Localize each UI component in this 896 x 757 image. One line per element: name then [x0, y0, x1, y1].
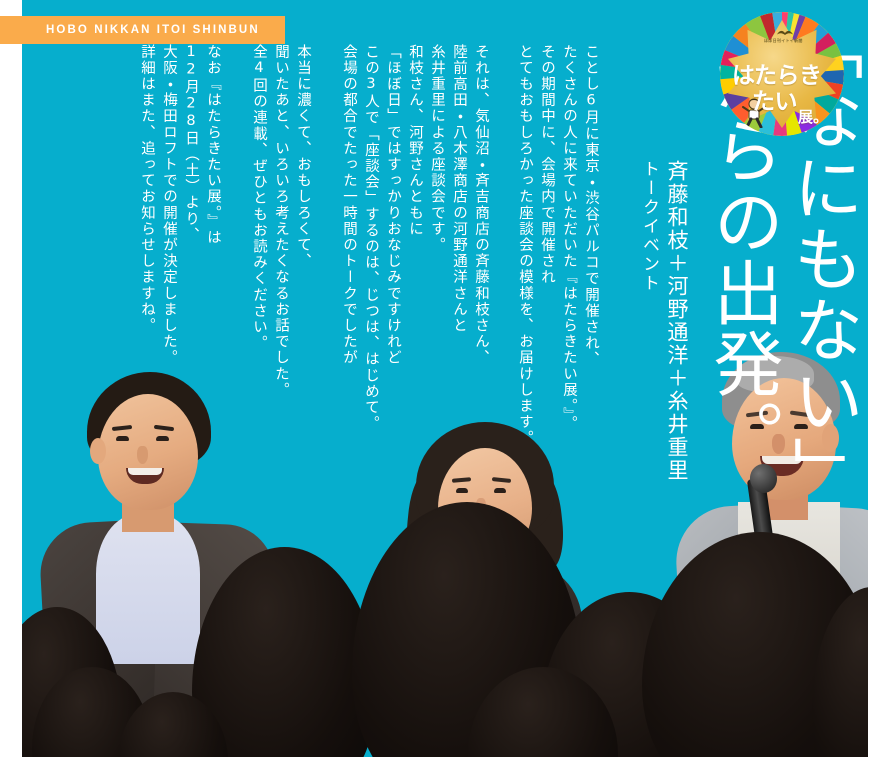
body-column: 詳細はまた、追ってお知らせしますね。	[138, 44, 156, 334]
badge-label: はたらき たい 展。	[720, 12, 844, 136]
credit-event-type: トークイベント	[637, 160, 662, 293]
jacket-right-panel	[152, 522, 276, 757]
audience-head	[118, 692, 228, 757]
hair-side-left	[403, 468, 449, 567]
eye-left	[116, 436, 129, 441]
face	[98, 394, 198, 510]
shirt	[738, 502, 840, 622]
neck	[122, 492, 174, 532]
speaker-left-kono	[52, 372, 282, 757]
audience-head	[22, 607, 122, 757]
speaker-center-saito	[394, 422, 609, 757]
hair-side-right	[519, 468, 567, 571]
shirt	[96, 514, 200, 664]
microphone-head	[490, 516, 520, 548]
eyebrow-right	[492, 477, 511, 483]
eyebrow-left	[112, 425, 132, 431]
body-column: たくさんの人に来ていただいた『はたらきたい展。』。	[560, 44, 578, 432]
microphone-handle	[487, 529, 522, 638]
eye-right	[156, 436, 169, 441]
mouth	[472, 520, 498, 534]
body-column: なお『はたらきたい展。』は	[204, 44, 222, 246]
body-column: それは、気仙沼・斉吉商店の斉藤和枝さん、	[472, 44, 490, 366]
poster-page: 「なにもない」 からの出発。 斉藤和枝＋河野通洋＋糸井重里 トークイベント こと…	[0, 0, 896, 757]
eyebrow-left	[452, 477, 471, 483]
chair-seat	[690, 614, 868, 628]
nose	[137, 446, 148, 464]
hair	[87, 372, 211, 468]
jacket-left-panel	[38, 519, 160, 757]
credit-speaker-names: 斉藤和枝＋河野通洋＋糸井重里	[662, 160, 692, 482]
body-column: 12月28日（土）より、	[182, 44, 200, 243]
audience-head	[192, 547, 377, 757]
body-column: 聞いたあと、いろいろ考えたくなるお話でした。	[272, 44, 290, 398]
blouse	[404, 562, 582, 757]
body-column: ことし6月に東京・渋谷パルコで開催され、	[582, 44, 600, 368]
eye-right	[494, 488, 506, 493]
hand	[746, 564, 790, 620]
body-column: 本当に濃くて、おもしろくて、	[294, 44, 312, 269]
ear	[90, 438, 106, 464]
face	[438, 448, 532, 560]
eyebrow-right	[154, 425, 174, 431]
body-column: 「ほぼ日」ではすっかりおなじみですけれど	[384, 44, 402, 366]
audience-head	[32, 667, 152, 757]
audience-head	[352, 502, 582, 757]
site-brand-ribbon[interactable]: HOBO NIKKAN ITOI SHINBUN	[0, 16, 285, 44]
body-column: その期間中に、会場内で開催され	[538, 44, 556, 286]
teal-background-panel: 「なにもない」 からの出発。 斉藤和枝＋河野通洋＋糸井重里 トークイベント こと…	[22, 0, 868, 757]
body-column: 大阪・梅田ロフトでの開催が決定しました。	[160, 44, 178, 366]
eye-left	[456, 488, 468, 493]
badge-line-2: たい	[752, 82, 797, 116]
nose	[476, 498, 486, 515]
body-column: 和枝さん、河野さんともに	[406, 44, 424, 237]
audience-head	[542, 592, 717, 757]
blouse-placket	[486, 572, 490, 752]
audience-silhouettes	[22, 540, 868, 757]
body-column: この3人で「座談会」するのは、じつは、はじめて。	[362, 44, 380, 432]
chair-leg-right	[867, 624, 868, 734]
mouth	[126, 468, 164, 484]
audience-head	[468, 667, 618, 757]
audience-head	[642, 532, 868, 757]
teeth	[128, 468, 162, 475]
audience-head	[812, 587, 868, 757]
site-brand-label: HOBO NIKKAN ITOI SHINBUN	[46, 24, 260, 36]
neck	[462, 542, 506, 578]
body-column: 陸前高田・八木澤商店の河野通洋さんと	[450, 44, 468, 334]
hand	[490, 618, 532, 670]
body-column: とてもおもしろかった座談会の模様を、お届けします。	[516, 44, 534, 447]
microphone-handle	[747, 477, 779, 582]
badge-line-3: 展。	[798, 106, 828, 127]
body-column: 全4回の連載、ぜひともお読みください。	[250, 44, 268, 351]
jacket-left-panel	[674, 503, 795, 757]
body-column: 糸井重里による座談会です。	[428, 44, 446, 253]
chair-leg-left	[705, 624, 724, 734]
body-column: 会場の都合でたった一時間のトークでしたが	[340, 44, 358, 366]
jacket-right-panel	[786, 505, 868, 757]
hatarakitai-exhibition-badge[interactable]: ほぼ日刊イトイ新聞 はたらき たい 展。	[720, 12, 844, 136]
